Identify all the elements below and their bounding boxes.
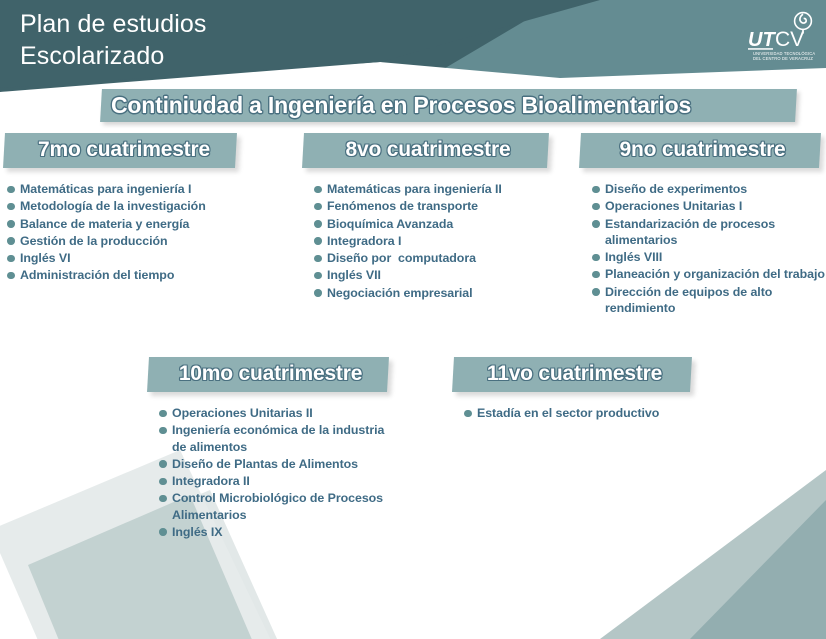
course-item-label: Diseño por computadora xyxy=(327,251,476,265)
term-tab[interactable]: 10mo cuatrimestre xyxy=(148,357,393,392)
slide-root: Plan de estudios Escolarizado UT CV UNIV… xyxy=(0,0,826,639)
course-item[interactable]: Metodología de la investigación xyxy=(7,198,244,214)
bullet-icon xyxy=(592,220,600,228)
course-item-label: Operaciones Unitarias I xyxy=(605,199,742,213)
page-title: Plan de estudios Escolarizado xyxy=(20,8,206,72)
course-item[interactable]: Diseño por computadora xyxy=(314,250,553,266)
course-item-label: Administración del tiempo xyxy=(20,268,174,282)
decor-band-right-dark xyxy=(690,500,826,639)
course-item[interactable]: Dirección de equipos de alto rendimiento xyxy=(592,284,825,317)
course-item-label: Matemáticas para ingeniería II xyxy=(327,182,502,196)
term-tab-label: 9no cuatrimestre xyxy=(580,133,825,162)
course-item-label: Integradora II xyxy=(172,474,250,488)
course-item-label: Integradora I xyxy=(327,234,401,248)
course-item[interactable]: Matemáticas para ingeniería II xyxy=(314,181,553,197)
course-item[interactable]: Matemáticas para ingeniería I xyxy=(7,181,244,197)
bullet-icon xyxy=(314,220,322,228)
course-item-label: Inglés VIII xyxy=(605,250,662,264)
course-list: Operaciones Unitarias IIIngeniería econó… xyxy=(159,405,393,540)
logo-subtitle-line2: DEL CENTRO DE VERACRUZ xyxy=(753,56,813,61)
term-tab[interactable]: 7mo cuatrimestre xyxy=(4,133,244,168)
bullet-icon xyxy=(592,271,600,279)
course-item-label: Balance de materia y energía xyxy=(20,217,189,231)
utcv-logo: UT CV UNIVERSIDAD TECNOLÓGICA DEL CENTRO… xyxy=(746,10,818,62)
bullet-icon xyxy=(7,272,15,280)
bullet-icon xyxy=(159,478,167,486)
course-item[interactable]: Control Microbiológico de Procesos Alime… xyxy=(159,490,393,523)
course-item-label: Negociación empresarial xyxy=(327,286,473,300)
course-item[interactable]: Ingeniería económica de la industria de … xyxy=(159,422,393,455)
bullet-icon xyxy=(314,255,322,263)
term-tab[interactable]: 8vo cuatrimestre xyxy=(303,133,553,168)
course-item[interactable]: Integradora II xyxy=(159,473,393,489)
term-block-8vo: 8vo cuatrimestreMatemáticas para ingenie… xyxy=(303,133,553,302)
bullet-icon xyxy=(7,255,15,263)
course-list: Estadía en el sector productivo xyxy=(464,405,696,421)
bullet-icon xyxy=(159,528,167,536)
course-item[interactable]: Integradora I xyxy=(314,233,553,249)
course-list: Diseño de experimentosOperaciones Unitar… xyxy=(592,181,825,316)
course-item-label: Fenómenos de transporte xyxy=(327,199,478,213)
bullet-icon xyxy=(592,254,600,262)
course-item-label: Ingeniería económica de la industria de … xyxy=(172,423,388,453)
course-item-label: Inglés VI xyxy=(20,251,71,265)
course-item-label: Bioquímica Avanzada xyxy=(327,217,453,231)
bullet-icon xyxy=(592,203,600,211)
course-item-label: Operaciones Unitarias II xyxy=(172,406,313,420)
term-tab[interactable]: 11vo cuatrimestre xyxy=(453,357,696,392)
ribbon-title: Continiudad a Ingeniería en Procesos Bio… xyxy=(101,89,705,119)
course-item[interactable]: Inglés VIII xyxy=(592,249,825,265)
term-block-11vo: 11vo cuatrimestreEstadía en el sector pr… xyxy=(453,357,696,422)
bullet-icon xyxy=(314,203,322,211)
course-item[interactable]: Estandarización de procesos alimentarios xyxy=(592,216,825,249)
bullet-icon xyxy=(7,203,15,211)
bullet-icon xyxy=(7,220,15,228)
program-title-ribbon: Continiudad a Ingeniería en Procesos Bio… xyxy=(101,89,705,122)
bullet-icon xyxy=(159,495,167,503)
course-item[interactable]: Estadía en el sector productivo xyxy=(464,405,696,421)
bullet-icon xyxy=(159,410,167,418)
course-item-label: Planeación y organización del trabajo xyxy=(605,267,825,281)
course-item-label: Diseño de experimentos xyxy=(605,182,747,196)
course-item-label: Metodología de la investigación xyxy=(20,199,206,213)
bullet-icon xyxy=(7,186,15,194)
course-item[interactable]: Operaciones Unitarias II xyxy=(159,405,393,421)
bullet-icon xyxy=(464,410,472,418)
bullet-icon xyxy=(159,427,167,435)
bullet-icon xyxy=(592,288,600,296)
term-block-7mo: 7mo cuatrimestreMatemáticas para ingenie… xyxy=(4,133,244,285)
term-tab[interactable]: 9no cuatrimestre xyxy=(580,133,825,168)
course-item[interactable]: Planeación y organización del trabajo xyxy=(592,266,825,282)
course-item-label: Inglés IX xyxy=(172,525,223,539)
course-item-label: Diseño de Plantas de Alimentos xyxy=(172,457,358,471)
term-tab-label: 8vo cuatrimestre xyxy=(303,133,553,162)
course-item-label: Dirección de equipos de alto rendimiento xyxy=(605,285,776,315)
course-item[interactable]: Bioquímica Avanzada xyxy=(314,216,553,232)
course-item[interactable]: Inglés IX xyxy=(159,524,393,540)
term-tab-label: 11vo cuatrimestre xyxy=(453,357,696,386)
course-item[interactable]: Operaciones Unitarias I xyxy=(592,198,825,214)
course-item-label: Control Microbiológico de Procesos Alime… xyxy=(172,491,386,521)
term-block-9no: 9no cuatrimestreDiseño de experimentosOp… xyxy=(580,133,825,317)
course-item[interactable]: Balance de materia y energía xyxy=(7,216,244,232)
utcv-wordmark-icon: UT CV xyxy=(748,28,804,51)
course-item-label: Matemáticas para ingeniería I xyxy=(20,182,191,196)
course-item-label: Estandarización de procesos alimentarios xyxy=(605,217,779,247)
course-item[interactable]: Inglés VI xyxy=(7,250,244,266)
bullet-icon xyxy=(592,186,600,194)
course-item[interactable]: Diseño de Plantas de Alimentos xyxy=(159,456,393,472)
course-item[interactable]: Inglés VII xyxy=(314,267,553,283)
bullet-icon xyxy=(314,272,322,280)
term-tab-label: 10mo cuatrimestre xyxy=(148,357,393,386)
course-item[interactable]: Diseño de experimentos xyxy=(592,181,825,197)
course-list: Matemáticas para ingeniería IIFenómenos … xyxy=(314,181,553,301)
decor-band-right-light xyxy=(600,470,826,639)
term-tab-label: 7mo cuatrimestre xyxy=(4,133,244,162)
bullet-icon xyxy=(7,237,15,245)
bullet-icon xyxy=(314,289,322,297)
bullet-icon xyxy=(159,460,167,468)
course-list: Matemáticas para ingeniería IMetodología… xyxy=(7,181,244,284)
svg-text:CV: CV xyxy=(775,28,804,51)
course-item-label: Gestión de la producción xyxy=(20,234,168,248)
bullet-icon xyxy=(314,237,322,245)
course-item[interactable]: Negociación empresarial xyxy=(314,285,553,301)
svg-text:UT: UT xyxy=(748,29,776,51)
course-item-label: Estadía en el sector productivo xyxy=(477,406,659,420)
course-item[interactable]: Fenómenos de transporte xyxy=(314,198,553,214)
course-item[interactable]: Administración del tiempo xyxy=(7,267,244,283)
course-item-label: Inglés VII xyxy=(327,268,381,282)
term-block-10mo: 10mo cuatrimestreOperaciones Unitarias I… xyxy=(148,357,393,541)
course-item[interactable]: Gestión de la producción xyxy=(7,233,244,249)
bullet-icon xyxy=(314,186,322,194)
